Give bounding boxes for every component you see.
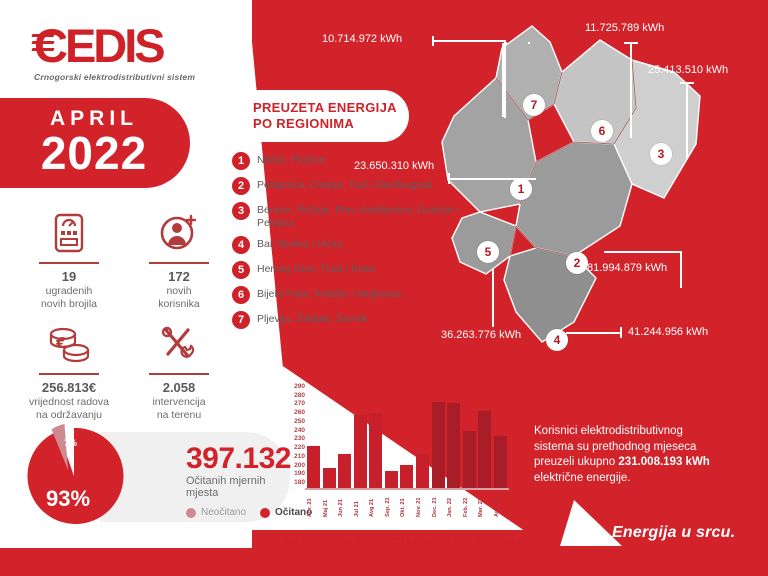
stat-value: 256.813€	[14, 380, 124, 395]
leader-line-7-x	[528, 42, 530, 44]
map-marker-4: 4	[546, 329, 568, 351]
leader-1-cap	[448, 173, 450, 184]
region-number-badge: 3	[232, 202, 250, 220]
chart-x-label: Jan. 22	[447, 491, 460, 517]
region-number-badge: 7	[232, 311, 250, 329]
stats-row-1: 19 ugradenih novih brojila 172	[14, 208, 234, 319]
chart-x-label: Jun 21	[338, 491, 351, 517]
region-number-badge: 1	[232, 152, 250, 170]
map-callout-3: 25.413.510 kWh	[648, 64, 728, 76]
regions-title-pill: PREUZETA ENERGIJA PO REGIONIMA	[233, 90, 409, 142]
map-marker-6: 6	[591, 120, 613, 142]
chart-x-label: Nov. 21	[416, 491, 429, 517]
brand-logo: CEDIS Crnogorski elektrodistributivni si…	[34, 22, 214, 82]
map-marker-7: 7	[523, 94, 545, 116]
chart-bar	[385, 471, 398, 488]
stat-label-line2: novih brojila	[41, 298, 97, 310]
stat-label-line1: vrijednost radova	[29, 396, 109, 408]
stat-value: 172	[124, 269, 234, 284]
legend-read-swatch	[260, 508, 270, 518]
region-number-badge: 4	[232, 236, 250, 254]
chart-bar	[478, 411, 491, 488]
chart-bar	[432, 402, 445, 488]
legend-unread: Neočitano	[186, 507, 246, 518]
chart-bar	[338, 454, 351, 488]
readings-caption: Očitanih mjernih mjesta	[186, 475, 290, 499]
stat-label: intervencija na terenu	[124, 396, 234, 422]
region-number-badge: 6	[232, 286, 250, 304]
readings-total: 397.132	[186, 442, 290, 476]
stat-label: ugradenih novih brojila	[14, 285, 124, 311]
region-item-5: 5 Herceg Novi, Tivat i Kotor	[232, 261, 462, 279]
stats-grid: 19 ugradenih novih brojila 172	[14, 208, 234, 430]
chart-y-tick: 260	[294, 410, 305, 416]
summary-line-3-text: preuzeli ukupno	[534, 456, 615, 468]
chart-x-label: Apr. 21	[307, 491, 320, 517]
chart-x-label: Maj 21	[323, 491, 336, 517]
euro-coins-icon: €	[14, 319, 124, 369]
readings-summary-panel: 397.132 Očitanih mjernih mjesta Neočitan…	[100, 432, 290, 522]
chart-x-label: Mar. 22	[478, 491, 491, 517]
map-callout-1: 23.650.310 kWh	[346, 158, 442, 174]
leader-7-vert	[504, 42, 506, 118]
legend-unread-swatch	[186, 508, 196, 518]
leader-1-horiz	[448, 178, 536, 180]
map-callout-4: 41.244.956 kWh	[628, 326, 708, 338]
stat-maintenance-value: € 256.813€ vrijednost radova na održavan…	[14, 319, 124, 430]
chart-y-tick: 290	[294, 384, 305, 390]
summary-line-2: sistema su prethodnog mjeseca	[534, 440, 760, 456]
leader-6-cap	[624, 42, 638, 44]
leader-3-cap	[680, 82, 694, 84]
logo-subtitle: Crnogorski elektrodistributivni sistem	[34, 72, 214, 82]
brand-slogan: Energija u srcu.	[612, 524, 735, 542]
chart-x-label: Avg 21	[369, 491, 382, 517]
chart-y-tick: 200	[294, 463, 305, 469]
svg-text:€: €	[55, 334, 66, 352]
regions-title: PREUZETA ENERGIJA PO REGIONIMA	[253, 100, 397, 132]
chart-y-tick: 250	[294, 419, 305, 425]
leader-4-horiz	[566, 332, 622, 334]
leader-7-horiz	[432, 40, 506, 42]
stat-label-line2: korisnika	[158, 298, 199, 310]
leader-3-vert	[686, 82, 688, 158]
stat-label-line2: na održavanju	[36, 409, 102, 421]
chart-bar	[369, 413, 382, 488]
stat-new-users: 172 novih korisnika	[124, 208, 234, 319]
stat-divider	[149, 373, 209, 375]
map-callout-5: 36.263.776 kWh	[433, 327, 529, 343]
chart-x-axis-line	[305, 488, 509, 490]
region-name: Bar, Budva i Ulcinj	[257, 236, 342, 251]
chart-y-tick: 230	[294, 436, 305, 442]
chart-y-tick: 190	[294, 471, 305, 477]
region-name: Podgorica, Cetinje, Tuzi i Danilovgrad	[257, 177, 432, 192]
stat-label-line2: na terenu	[157, 409, 201, 421]
regions-title-line2: PO REGIONIMA	[253, 116, 354, 131]
chart-x-labels: Apr. 21Maj 21Jun 21Jul 21Avg 21Sep. 21Ok…	[307, 491, 507, 517]
leader-4-cap	[620, 327, 622, 338]
region-name: Herceg Novi, Tivat i Kotor	[257, 261, 376, 276]
regions-list: 1 Nikšić, Plužine 2 Podgorica, Cetinje, …	[232, 152, 462, 336]
chart-title: PREUZETA ENERGIJA PO MJESECIMA	[278, 536, 528, 550]
chart-y-tick: 240	[294, 428, 305, 434]
monthly-energy-bar-chart: 290280270260250240230220210200190180 Apr…	[283, 384, 509, 496]
stat-field-interventions: 2.058 intervencija na terenu	[124, 319, 234, 430]
map-callout-2: 81.994.879 kWh	[587, 262, 667, 274]
region-number-badge: 5	[232, 261, 250, 279]
readings-pie-chart: 7% 93%	[22, 424, 126, 528]
chart-bar	[447, 403, 460, 488]
map-callout-6: 11.725.789 kWh	[585, 22, 664, 34]
logo-wordmark: CEDIS	[34, 22, 214, 70]
region-item-4: 4 Bar, Budva i Ulcinj	[232, 236, 462, 254]
tools-icon	[124, 319, 234, 369]
stat-divider	[149, 262, 209, 264]
chart-x-label: Okt. 21	[400, 491, 413, 517]
region-item-2: 2 Podgorica, Cetinje, Tuzi i Danilovgrad	[232, 177, 462, 195]
donut-legend: Neočitano Očitano	[186, 507, 290, 518]
stat-meters-installed: 19 ugradenih novih brojila	[14, 208, 124, 319]
legend-unread-label: Neočitano	[201, 507, 246, 518]
summary-line-1: Korisnici elektrodistributivnog	[534, 424, 760, 440]
stat-label-line1: novih	[166, 285, 191, 297]
chart-x-label: Jul 21	[354, 491, 367, 517]
chart-x-label: Sep. 21	[385, 491, 398, 517]
summary-line-4: električne energije.	[534, 471, 760, 487]
region-name: Pljevlja, Žabljak, Šavnik	[257, 311, 367, 326]
regions-title-line1: PREUZETA ENERGIJA	[253, 100, 397, 115]
stat-divider	[39, 373, 99, 375]
chart-y-tick: 280	[294, 393, 305, 399]
stat-label-line1: ugradenih	[46, 285, 93, 297]
region-number-badge: 2	[232, 177, 250, 195]
logo-mark: CEDIS	[34, 22, 214, 70]
summary-text: Korisnici elektrodistributivnog sistema …	[534, 424, 760, 486]
map-callout-7: 10.714.972 kWh	[322, 33, 402, 45]
chart-bar	[400, 465, 413, 488]
summary-line-3: preuzeli ukupno 231.008.193 kWh	[534, 455, 760, 471]
map-marker-3: 3	[650, 143, 672, 165]
date-badge-year: 2022	[0, 131, 190, 175]
leader-2-horiz	[604, 251, 682, 253]
region-item-7: 7 Pljevlja, Žabljak, Šavnik	[232, 311, 462, 329]
stat-value: 19	[14, 269, 124, 284]
chart-y-tick: 210	[294, 454, 305, 460]
stat-label: novih korisnika	[124, 285, 234, 311]
stats-row-2: € 256.813€ vrijednost radova na održavan…	[14, 319, 234, 430]
chart-x-label: Feb. 22	[463, 491, 476, 517]
region-item-6: 6 Bijelo Polje, Kolašin i Mojkovac	[232, 286, 462, 304]
stat-value: 2.058	[124, 380, 234, 395]
chart-plot-area	[307, 384, 507, 488]
stat-divider	[39, 262, 99, 264]
map-marker-2: 2	[566, 252, 588, 274]
infographic-canvas: CEDIS Crnogorski elektrodistributivni si…	[0, 0, 768, 576]
legend-read: Očitano	[260, 507, 312, 518]
chart-bar	[416, 454, 429, 488]
electricity-meter-icon	[14, 208, 124, 258]
summary-total-value: 231.008.193 kWh	[618, 456, 709, 468]
chart-y-tick: 220	[294, 445, 305, 451]
chart-x-label: Apr. 22	[494, 491, 507, 517]
region-name: Bijelo Polje, Kolašin i Mojkovac	[257, 286, 402, 301]
region-name: Berane, Rožaje, Plav, Andrijevica, Gusin…	[257, 202, 462, 229]
chart-bar	[463, 431, 476, 488]
chart-bar	[307, 446, 320, 488]
chart-x-label: Dec. 21	[432, 491, 445, 517]
leader-2-vert	[680, 252, 682, 288]
chart-bar	[494, 436, 507, 488]
chart-y-axis: 290280270260250240230220210200190180	[283, 384, 305, 484]
date-badge: APRIL 2022	[0, 98, 190, 188]
stat-label-line1: intervencija	[152, 396, 205, 408]
region-item-3: 3 Berane, Rožaje, Plav, Andrijevica, Gus…	[232, 202, 462, 229]
pie-label-unread: 7%	[64, 438, 77, 448]
region-name: Nikšić, Plužine	[257, 152, 325, 167]
chart-bar	[354, 415, 367, 488]
leader-5-vert	[492, 268, 494, 328]
new-user-icon	[124, 208, 234, 258]
pie-label-read: 93%	[46, 486, 90, 512]
chart-bar	[323, 468, 336, 488]
chart-y-tick: 270	[294, 401, 305, 407]
logo-slash-icon	[32, 34, 54, 55]
leader-6-vert	[630, 42, 632, 138]
chart-y-tick: 180	[294, 480, 305, 486]
pie-graphic: 7% 93%	[22, 424, 126, 528]
map-marker-5: 5	[477, 241, 499, 263]
map-marker-1: 1	[510, 178, 532, 200]
stat-label: vrijednost radova na održavanju	[14, 396, 124, 422]
